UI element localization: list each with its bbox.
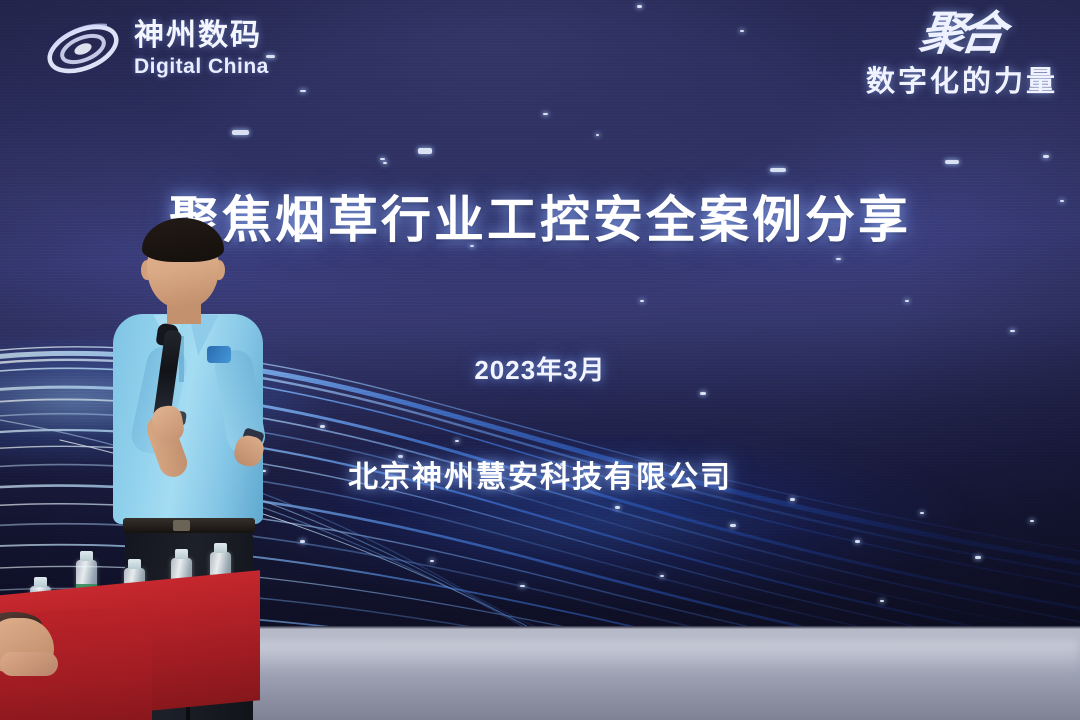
bottle-cap — [175, 549, 188, 559]
light-particle — [380, 158, 385, 160]
digital-china-brand-block: 神州数码 Digital China — [44, 18, 269, 80]
light-particle — [640, 300, 644, 302]
light-particle — [520, 585, 525, 587]
light-particle — [1030, 520, 1034, 522]
bottle-cap — [128, 559, 141, 569]
speaker-belt-buckle — [173, 520, 190, 531]
light-particle — [543, 113, 548, 115]
light-particle — [740, 30, 744, 32]
light-particle — [418, 148, 432, 154]
light-particle — [905, 300, 909, 302]
light-particle — [300, 90, 306, 92]
light-particle — [660, 575, 664, 577]
light-particle — [596, 134, 599, 136]
light-particle — [855, 540, 860, 543]
brand-name-en: Digital China — [134, 56, 269, 77]
light-particle — [880, 600, 884, 602]
event-slogan-block: 聚合 数字化的力量 — [808, 12, 1058, 100]
light-particle — [945, 160, 959, 164]
light-particle — [730, 524, 736, 527]
light-particle — [383, 162, 387, 164]
calligraphy-juhe: 聚合 — [805, 12, 1002, 54]
light-particle — [1010, 330, 1015, 332]
light-particle — [637, 5, 642, 8]
speaker-hair — [142, 218, 224, 262]
screenshot-root: 神州数码 Digital China 聚合 数字化的力量 聚焦烟草行业工控安全案… — [0, 0, 1080, 720]
light-particle — [615, 506, 620, 509]
light-particle — [455, 440, 459, 442]
bottle-cap — [214, 543, 227, 553]
light-particle — [700, 392, 706, 395]
brand-name-cn: 神州数码 — [134, 21, 269, 51]
attendee-arm — [0, 652, 58, 676]
light-particle — [320, 425, 325, 428]
light-particle — [770, 168, 786, 172]
light-particle — [920, 512, 924, 514]
light-particle — [430, 560, 434, 562]
bottle-cap — [80, 551, 93, 561]
light-particle — [836, 258, 841, 260]
speaker-shirt-logo-icon — [207, 346, 231, 363]
brand-text-block: 神州数码 Digital China — [134, 21, 269, 77]
digital-china-swirl-icon — [44, 18, 122, 80]
light-particle — [790, 498, 795, 501]
light-particle — [975, 556, 981, 559]
bottle-cap — [34, 577, 47, 587]
light-particle — [1043, 155, 1049, 158]
light-particle — [232, 130, 249, 135]
light-particle — [300, 540, 305, 543]
slogan-subtitle: 数字化的力量 — [808, 58, 1058, 100]
